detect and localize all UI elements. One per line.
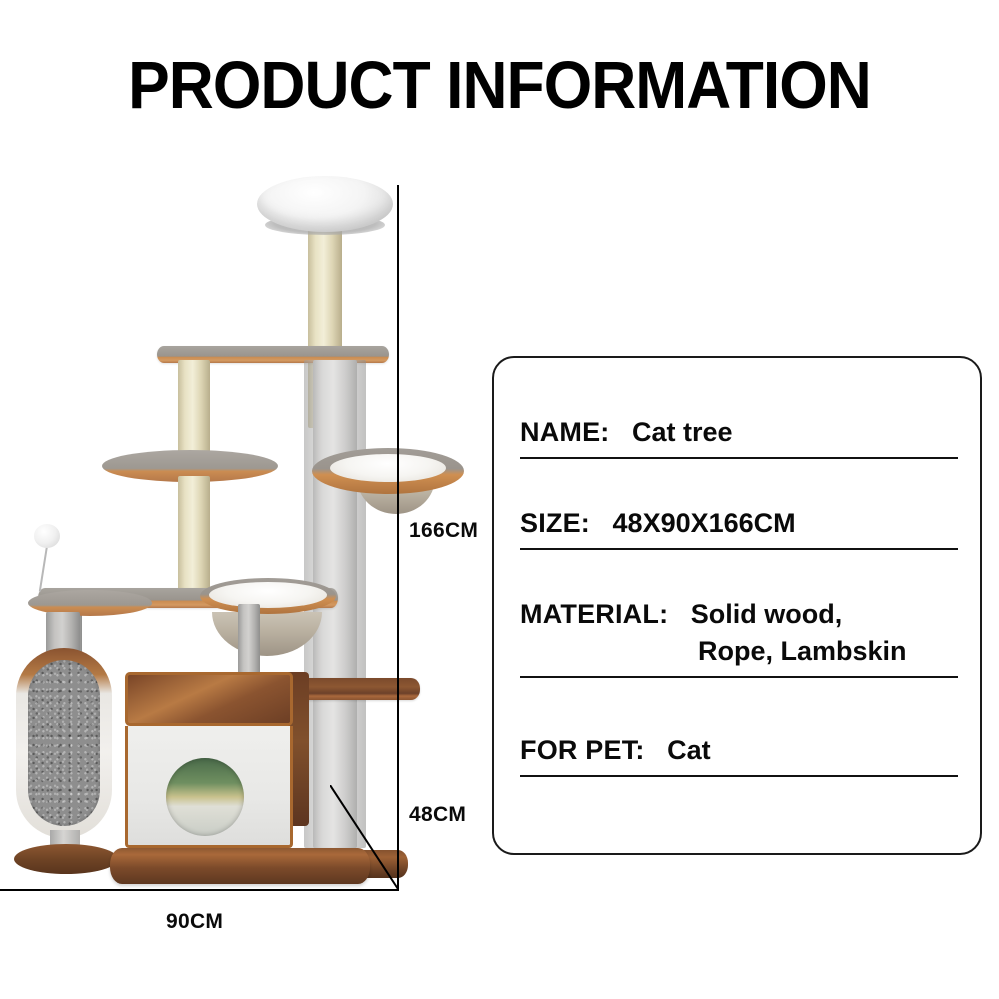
condo-roof: [125, 672, 293, 726]
spec-row-material: MATERIAL: Solid wood, Rope, Lambskin: [520, 572, 958, 677]
pom-pom-wire: [39, 546, 48, 592]
spec-value-material-continued: Rope, Lambskin: [520, 633, 958, 669]
spec-row-for-pet: FOR PET: Cat: [520, 700, 958, 777]
product-information-page: PRODUCT INFORMATION: [0, 0, 999, 999]
cat-tree-illustration: [0, 150, 420, 895]
spec-row-size: SIZE: 48X90X166CM: [520, 481, 958, 550]
spec-key-size: SIZE:: [520, 508, 590, 538]
spec-value-material: Solid wood,: [691, 599, 842, 629]
pom-pom-ball: [34, 524, 60, 548]
dimension-label-height: 166CM: [409, 519, 478, 543]
dimension-label-depth: 48CM: [409, 803, 466, 827]
specification-panel: NAME: Cat tree SIZE: 48X90X166CM MATERIA…: [492, 356, 982, 855]
cradle-bed-upper-inner: [330, 454, 446, 482]
spec-value-name: Cat tree: [632, 417, 733, 447]
spec-row-name: NAME: Cat tree: [520, 412, 958, 459]
page-title: PRODUCT INFORMATION: [35, 52, 964, 119]
spec-value-for-pet: Cat: [667, 735, 711, 765]
platform-lower-right: [298, 678, 420, 700]
condo-entrance-hole: [166, 758, 244, 836]
spec-key-material: MATERIAL:: [520, 599, 668, 629]
post-left-sisal-lower: [178, 476, 210, 596]
scratch-pad-carpet: [28, 660, 100, 826]
spec-key-for-pet: FOR PET:: [520, 735, 645, 765]
dimension-line-depth: [330, 785, 400, 891]
dimension-label-width: 90CM: [166, 910, 223, 934]
scratch-pad-base: [14, 844, 118, 874]
spec-key-name: NAME:: [520, 417, 610, 447]
top-plush-bed: [257, 176, 393, 232]
hammock-mid-inner: [209, 582, 327, 608]
post-mid-support-right: [238, 604, 260, 676]
spec-value-size: 48X90X166CM: [613, 508, 796, 538]
specification-rows: NAME: Cat tree SIZE: 48X90X166CM MATERIA…: [520, 412, 958, 777]
